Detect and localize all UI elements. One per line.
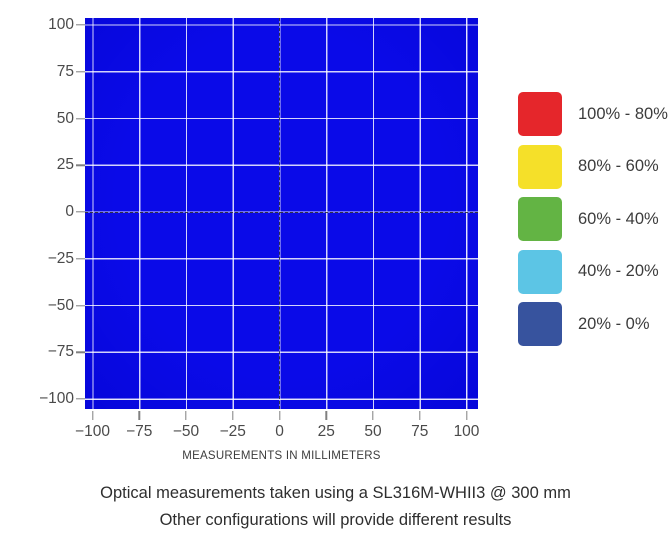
legend-item[interactable]: 100% - 80%: [518, 88, 668, 141]
y-tick-label: 0: [65, 203, 74, 221]
caption-line-1: Optical measurements taken using a SL316…: [0, 480, 671, 507]
y-axis: 100 75 50 25 0 −25 −50 −75 −100: [0, 18, 74, 409]
y-tick-mark: [76, 211, 85, 212]
legend-color-swatch: [518, 92, 562, 136]
legend: 100% - 80% 80% - 60% 60% - 40% 40% - 20%…: [518, 88, 668, 351]
y-tick-mark: [76, 258, 85, 259]
y-tick-mark: [76, 24, 85, 25]
x-tick-mark: [185, 411, 186, 420]
y-tick-label: 50: [57, 110, 74, 128]
x-tick-label: 0: [275, 423, 284, 441]
caption-line-2: Other configurations will provide differ…: [0, 507, 671, 534]
y-tick-mark: [76, 165, 85, 166]
x-tick-mark: [326, 411, 327, 420]
legend-color-swatch: [518, 145, 562, 189]
legend-item[interactable]: 60% - 40%: [518, 193, 668, 246]
x-tick-mark: [279, 411, 280, 420]
legend-item[interactable]: 40% - 20%: [518, 246, 668, 299]
x-tick-mark: [419, 411, 420, 420]
legend-item-label: 80% - 60%: [578, 157, 659, 176]
x-axis: −100 −75 −50 −25 0 25 50 75 100: [85, 409, 478, 449]
legend-item-label: 20% - 0%: [578, 315, 650, 334]
y-tick-mark: [76, 352, 85, 353]
y-tick-label: 75: [57, 63, 74, 81]
optical-intensity-heatmap-figure: 100 75 50 25 0 −25 −50 −75 −100 −100 −75…: [0, 0, 671, 538]
legend-color-swatch: [518, 250, 562, 294]
y-tick-mark: [76, 398, 85, 399]
x-tick-mark: [466, 411, 467, 420]
y-tick-label: −50: [48, 297, 74, 315]
y-tick-label: −75: [48, 343, 74, 361]
y-tick-label: −100: [39, 390, 74, 408]
x-tick-label: −25: [220, 423, 246, 441]
x-tick-mark: [92, 411, 93, 420]
legend-color-swatch: [518, 197, 562, 241]
heatmap-gradient-field: [85, 18, 478, 409]
x-tick-label: 25: [318, 423, 335, 441]
x-tick-mark: [232, 411, 233, 420]
x-tick-mark: [372, 411, 373, 420]
x-tick-label: 50: [364, 423, 381, 441]
x-tick-label: 75: [411, 423, 428, 441]
legend-item[interactable]: 80% - 60%: [518, 141, 668, 194]
y-tick-label: 100: [48, 16, 74, 34]
heatmap-plot-area: [85, 18, 478, 409]
x-tick-label: −75: [126, 423, 152, 441]
legend-item-label: 60% - 40%: [578, 210, 659, 229]
y-tick-mark: [76, 71, 85, 72]
y-tick-label: 25: [57, 156, 74, 174]
x-axis-title: MEASUREMENTS IN MILLIMETERS: [85, 450, 478, 462]
y-tick-label: −25: [48, 250, 74, 268]
legend-color-swatch: [518, 302, 562, 346]
x-tick-label: 100: [454, 423, 480, 441]
y-tick-mark: [76, 118, 85, 119]
legend-item-label: 100% - 80%: [578, 105, 668, 124]
x-tick-mark: [139, 411, 140, 420]
figure-caption: Optical measurements taken using a SL316…: [0, 480, 671, 534]
legend-item-label: 40% - 20%: [578, 262, 659, 281]
y-tick-mark: [76, 305, 85, 306]
x-tick-label: −100: [75, 423, 110, 441]
legend-item[interactable]: 20% - 0%: [518, 298, 668, 351]
x-tick-label: −50: [173, 423, 199, 441]
